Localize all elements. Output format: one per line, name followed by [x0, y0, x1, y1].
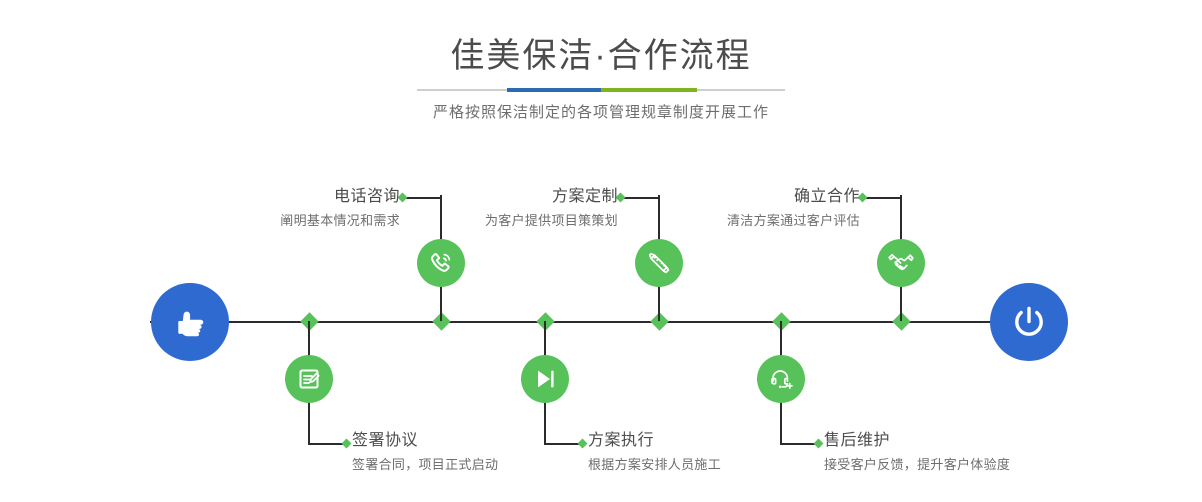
- customer-service-add-icon: [767, 365, 795, 393]
- step-desc-4: 根据方案安排人员施工: [588, 455, 838, 475]
- step-desc-6: 接受客户反馈，提升客户体验度: [824, 455, 1104, 475]
- step-icon-circle-2[interactable]: [285, 355, 333, 403]
- page-subtitle: 严格按照保洁制定的各项管理规章制度开展工作: [0, 102, 1202, 124]
- step-icon-circle-1[interactable]: [417, 239, 465, 287]
- step-icon-circle-3[interactable]: [635, 239, 683, 287]
- timeline-marker-1: [432, 312, 450, 330]
- step-icon-circle-5[interactable]: [877, 239, 925, 287]
- step-label-2: 签署协议 签署合同，项目正式启动: [352, 430, 602, 475]
- step-label-3: 方案定制 为客户提供项目策策划: [392, 186, 618, 231]
- title-divider: [417, 89, 785, 91]
- document-sign-icon: [295, 365, 323, 393]
- page-title: 佳美保洁·合作流程: [0, 34, 1202, 78]
- step-label-1: 电话咨询 阐明基本情况和需求: [174, 186, 400, 231]
- process-flow-infographic: 佳美保洁·合作流程 严格按照保洁制定的各项管理规章制度开展工作: [0, 0, 1202, 502]
- timeline-marker-5: [892, 312, 910, 330]
- phone-call-icon: [427, 249, 455, 277]
- step-desc-1: 阐明基本情况和需求: [174, 211, 400, 231]
- timeline-marker-6: [772, 312, 790, 330]
- timeline-axis: [150, 321, 1052, 323]
- timeline-marker-3: [650, 312, 668, 330]
- step-desc-5: 清洁方案通过客户评估: [634, 211, 860, 231]
- step-title-2: 签署协议: [352, 430, 602, 452]
- pencil-ruler-icon: [645, 249, 673, 277]
- step-title-5: 确立合作: [634, 186, 860, 208]
- divider-segment-blue: [507, 88, 601, 92]
- step-icon-circle-6[interactable]: [757, 355, 805, 403]
- handshake-icon: [887, 249, 915, 277]
- step-desc-3: 为客户提供项目策策划: [392, 211, 618, 231]
- step-title-3: 方案定制: [392, 186, 618, 208]
- step-label-5: 确立合作 清洁方案通过客户评估: [634, 186, 860, 231]
- timeline-end-node[interactable]: [990, 283, 1068, 361]
- step-icon-circle-4[interactable]: [521, 355, 569, 403]
- step-title-1: 电话咨询: [174, 186, 400, 208]
- play-execute-icon: [531, 365, 559, 393]
- header: 佳美保洁·合作流程 严格按照保洁制定的各项管理规章制度开展工作: [0, 34, 1202, 124]
- timeline-start-node[interactable]: [151, 283, 229, 361]
- connector-horizontal-5: [864, 197, 901, 199]
- step-label-4: 方案执行 根据方案安排人员施工: [588, 430, 838, 475]
- step-title-4: 方案执行: [588, 430, 838, 452]
- timeline-marker-4: [536, 312, 554, 330]
- step-label-6: 售后维护 接受客户反馈，提升客户体验度: [824, 430, 1104, 475]
- divider-segment-green: [601, 88, 697, 92]
- pointing-hand-icon: [170, 302, 210, 342]
- timeline-marker-2: [300, 312, 318, 330]
- connector-tip-2: [342, 439, 352, 449]
- step-title-6: 售后维护: [824, 430, 1104, 452]
- power-button-icon: [1008, 301, 1050, 343]
- step-desc-2: 签署合同，项目正式启动: [352, 455, 602, 475]
